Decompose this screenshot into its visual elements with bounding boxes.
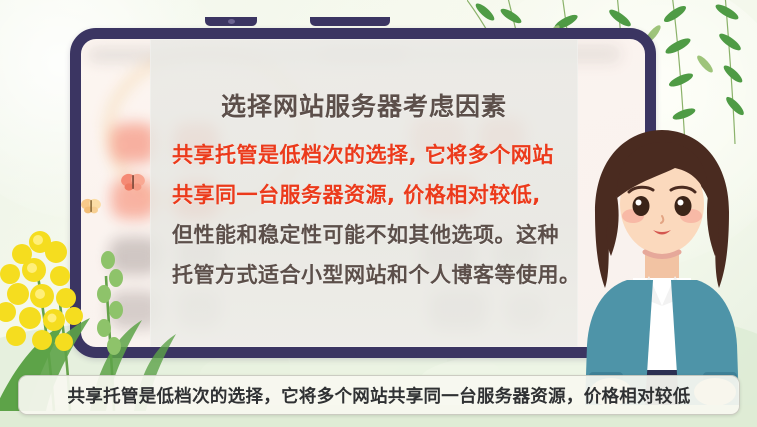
slide-body: 共享托管是低档次的选择, 它将多个网站 共享同一台服务器资源, 价格相对较低, …: [172, 135, 568, 295]
device-camera-icon: [228, 19, 235, 24]
slide-line-1: 共享托管是低档次的选择, 它将多个网站: [172, 135, 568, 175]
slide-line-4: 托管方式适合小型网站和个人博客等使用。: [172, 255, 568, 295]
slide-content: 选择网站服务器考虑因素 共享托管是低档次的选择, 它将多个网站 共享同一台服务器…: [150, 39, 578, 347]
subtitle-text: 共享托管是低档次的选择，它将多个网站共享同一台服务器资源，价格相对较低: [68, 383, 691, 408]
device-home-indicator: [355, 349, 417, 358]
device-frame: 选择网站服务器考虑因素 共享托管是低档次的选择, 它将多个网站 共享同一台服务器…: [70, 28, 656, 358]
slide-line-2: 共享同一台服务器资源, 价格相对较低,: [172, 175, 568, 215]
video-frame: 选择网站服务器考虑因素 共享托管是低档次的选择, 它将多个网站 共享同一台服务器…: [0, 0, 757, 427]
subtitle-bar: 共享托管是低档次的选择，它将多个网站共享同一台服务器资源，价格相对较低: [18, 375, 740, 415]
slide-title: 选择网站服务器考虑因素: [150, 87, 578, 123]
slide-line-3: 但性能和稳定性可能不如其他选项。这种: [172, 215, 568, 255]
device-sensor-icon: [310, 17, 390, 26]
